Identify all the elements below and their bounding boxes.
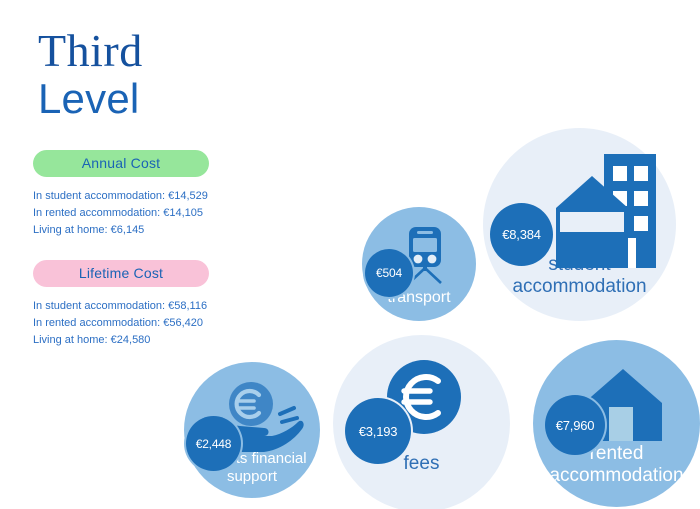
- lifetime-cost-panel: Lifetime Cost In student accommodation: …: [33, 260, 243, 349]
- bubble-transport[interactable]: €504 transport: [362, 207, 476, 321]
- student-accommodation-value: €8,384: [490, 203, 553, 266]
- annual-cost-line-rented: In rented accommodation: €14,105: [33, 205, 243, 222]
- lifetime-cost-line-student: In student accommodation: €58,116: [33, 298, 243, 315]
- bubble-rented-accommodation[interactable]: €7,960 rented accommodation: [533, 340, 700, 507]
- transport-value: €504: [365, 249, 413, 297]
- page-title: Third Level: [38, 28, 143, 120]
- lifetime-cost-lines: In student accommodation: €58,116 In ren…: [33, 298, 243, 349]
- lifetime-cost-badge: Lifetime Cost: [33, 260, 209, 287]
- fees-value: €3,193: [345, 398, 411, 464]
- page-title-line2: Level: [38, 78, 143, 120]
- annual-cost-line-home: Living at home: €6,145: [33, 222, 243, 239]
- parents-financial-support-label-line2: support: [184, 468, 320, 486]
- annual-cost-line-student: In student accommodation: €14,529: [33, 188, 243, 205]
- parents-financial-support-value: €2,448: [186, 416, 241, 471]
- lifetime-cost-line-rented: In rented accommodation: €56,420: [33, 315, 243, 332]
- page-title-line1: Third: [38, 28, 143, 74]
- annual-cost-badge: Annual Cost: [33, 150, 209, 177]
- annual-cost-panel: Annual Cost In student accommodation: €1…: [33, 150, 243, 239]
- infographic-canvas: Third Level Annual Cost In student accom…: [0, 0, 700, 509]
- lifetime-cost-line-home: Living at home: €24,580: [33, 332, 243, 349]
- bubble-parents-financial-support[interactable]: €2,448 parents financial support: [184, 362, 320, 498]
- student-accommodation-label-line2: accommodation: [483, 276, 676, 298]
- house-and-apartment-building-icon: [546, 150, 664, 268]
- bubble-fees[interactable]: €3,193 fees: [333, 335, 510, 509]
- bubble-student-accommodation[interactable]: €8,384 student accommodation: [483, 128, 676, 321]
- rented-accommodation-value: €7,960: [545, 395, 605, 455]
- rented-accommodation-label-line2: accommodation: [533, 465, 700, 487]
- annual-cost-lines: In student accommodation: €14,529 In ren…: [33, 188, 243, 239]
